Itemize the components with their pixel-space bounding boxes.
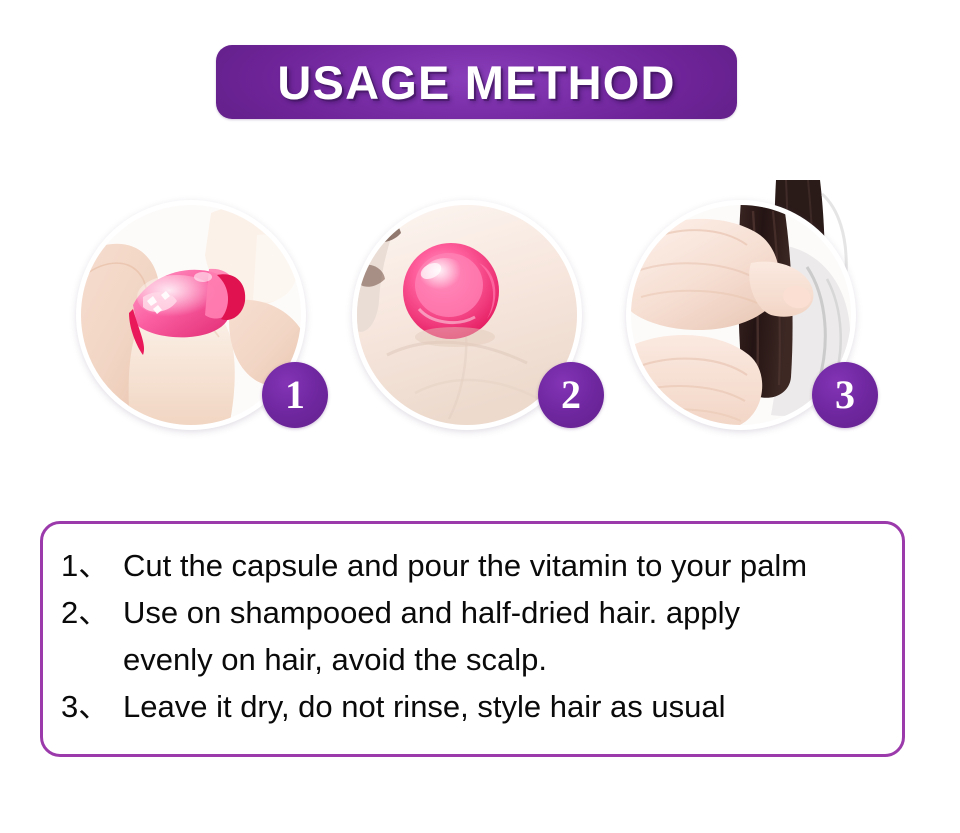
instruction-text-3: Leave it dry, do not rinse, style hair a… (123, 683, 726, 730)
step-photo-2: 2 (352, 200, 582, 430)
usage-method-banner: USAGE METHOD (216, 45, 737, 119)
step-badge-1-number: 1 (285, 375, 305, 415)
step-badge-2: 2 (538, 362, 604, 428)
step-badge-1: 1 (262, 362, 328, 428)
instruction-marker-1: 1、 (61, 542, 123, 589)
instruction-text-2-continued: evenly on hair, avoid the scalp. (123, 636, 547, 683)
instructions-panel: 1、 Cut the capsule and pour the vitamin … (40, 521, 905, 757)
instruction-marker-3: 3、 (61, 683, 123, 730)
step-photo-1: 1 (76, 200, 306, 430)
step-badge-2-number: 2 (561, 375, 581, 415)
page-title: USAGE METHOD (277, 59, 675, 106)
step-badge-3-number: 3 (835, 375, 855, 415)
instruction-line-2: 2、 Use on shampooed and half-dried hair.… (61, 589, 890, 636)
instruction-list: 1、 Cut the capsule and pour the vitamin … (61, 542, 890, 730)
instruction-text-1: Cut the capsule and pour the vitamin to … (123, 542, 807, 589)
step-photo-3: 3 (626, 200, 856, 430)
instruction-marker-2: 2、 (61, 589, 123, 636)
instruction-line-1: 1、 Cut the capsule and pour the vitamin … (61, 542, 890, 589)
instruction-text-2: Use on shampooed and half-dried hair. ap… (123, 589, 740, 636)
instruction-line-2-continued: evenly on hair, avoid the scalp. (61, 636, 890, 683)
instruction-line-3: 3、 Leave it dry, do not rinse, style hai… (61, 683, 890, 730)
step-badge-3: 3 (812, 362, 878, 428)
